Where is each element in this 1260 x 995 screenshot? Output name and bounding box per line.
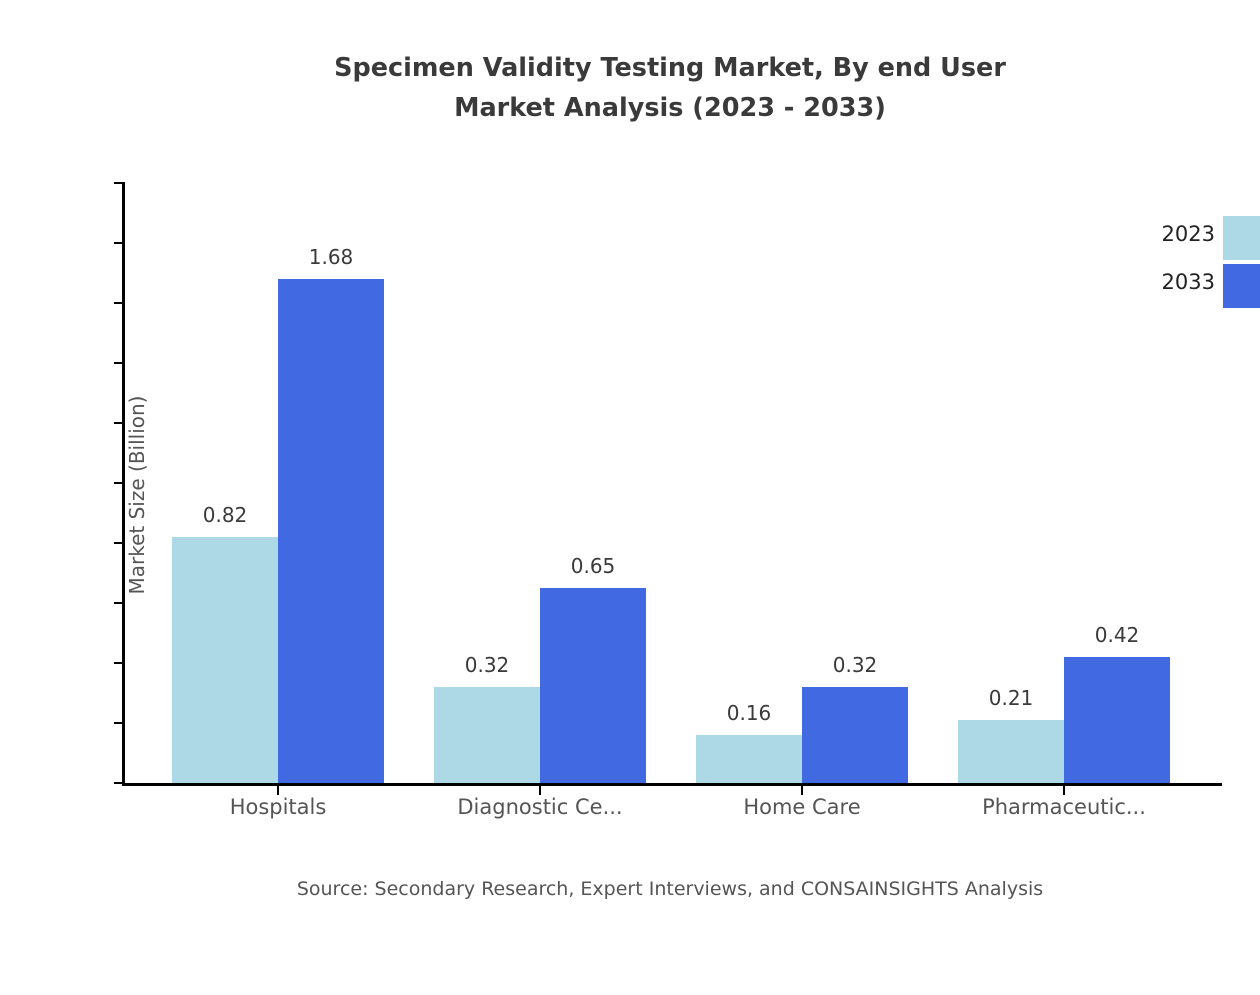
- x-axis-tick-label: Pharmaceutic...: [934, 795, 1194, 819]
- bar-2023-Home Care[interactable]: [696, 735, 802, 783]
- x-axis-tick: [277, 784, 279, 795]
- y-axis-tick: [114, 542, 124, 544]
- x-axis-tick: [539, 784, 541, 795]
- bar-value-label: 0.42: [1037, 623, 1197, 647]
- y-axis-tick: [114, 782, 124, 784]
- plot-area: Market Size (Billion) 0.00.20.40.60.81.0…: [124, 183, 1222, 783]
- legend-item-2033[interactable]: 2033: [1120, 264, 1260, 312]
- y-axis-tick: [114, 482, 124, 484]
- y-axis-title: Market Size (Billion): [125, 0, 149, 995]
- y-axis-tick: [114, 362, 124, 364]
- x-axis-tick-label: Home Care: [672, 795, 932, 819]
- chart-figure: Specimen Validity Testing Market, By end…: [0, 0, 1260, 920]
- legend-swatch: [1223, 216, 1260, 260]
- bar-2023-Pharmaceutic...[interactable]: [958, 720, 1064, 783]
- y-axis-tick: [114, 422, 124, 424]
- y-axis-tick: [114, 242, 124, 244]
- x-axis-tick-label: Diagnostic Ce...: [410, 795, 670, 819]
- bar-2033-Hospitals[interactable]: [278, 279, 384, 783]
- x-axis-tick-label: Hospitals: [148, 795, 408, 819]
- chart-title-line-2: Market Analysis (2023 - 2033): [0, 88, 1260, 128]
- source-note: Source: Secondary Research, Expert Inter…: [0, 878, 1260, 900]
- x-axis-tick: [1063, 784, 1065, 795]
- legend-item-2023[interactable]: 2023: [1120, 216, 1260, 264]
- page-title: Specimen Validity Testing Market, By end…: [0, 48, 1260, 128]
- bar-value-label: 0.65: [513, 554, 673, 578]
- y-axis-tick: [114, 302, 124, 304]
- chart-legend: 20232033: [1120, 216, 1260, 312]
- bar-2033-Home Care[interactable]: [802, 687, 908, 783]
- y-axis-tick: [114, 602, 124, 604]
- y-axis-tick: [114, 722, 124, 724]
- bar-2023-Hospitals[interactable]: [172, 537, 278, 783]
- y-axis-tick: [114, 662, 124, 664]
- legend-label: 2033: [1120, 270, 1215, 294]
- bar-2033-Pharmaceutic...[interactable]: [1064, 657, 1170, 783]
- y-axis-tick: [114, 182, 124, 184]
- bar-value-label: 0.32: [775, 653, 935, 677]
- bar-2033-Diagnostic Ce...[interactable]: [540, 588, 646, 783]
- bar-2023-Diagnostic Ce...[interactable]: [434, 687, 540, 783]
- x-axis-spine: [122, 783, 1222, 786]
- legend-swatch: [1223, 264, 1260, 308]
- legend-label: 2023: [1120, 222, 1215, 246]
- chart-title-line-1: Specimen Validity Testing Market, By end…: [0, 48, 1260, 88]
- bar-value-label: 1.68: [251, 245, 411, 269]
- x-axis-tick: [801, 784, 803, 795]
